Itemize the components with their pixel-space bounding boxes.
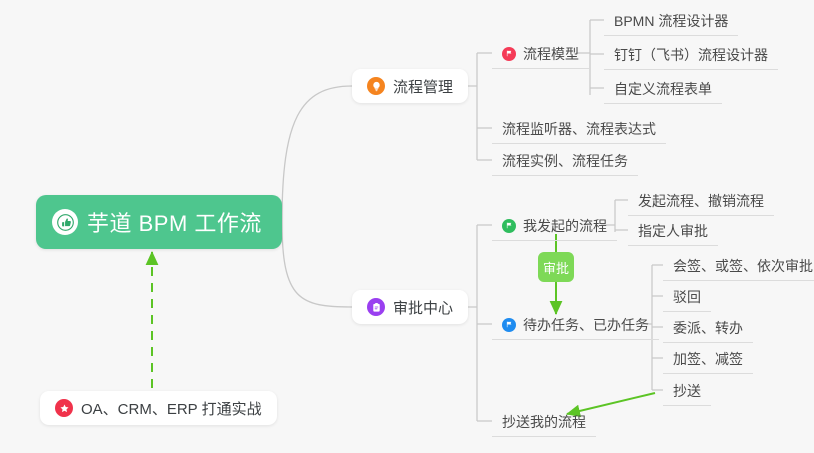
- node-oa-crm-erp-label: OA、CRM、ERP 打通实战: [81, 398, 262, 419]
- node-countersign-label: 会签、或签、依次审批: [673, 256, 813, 276]
- node-process-instance-label: 流程实例、流程任务: [502, 151, 628, 171]
- node-todo-done-tasks[interactable]: 待办任务、已办任务: [492, 310, 659, 340]
- approve-tag-label: 审批: [543, 258, 569, 277]
- node-dingtalk-designer[interactable]: 钉钉（飞书）流程设计器: [604, 40, 778, 70]
- branch-approval-center[interactable]: 审批中心: [352, 290, 468, 324]
- clipboard-icon: [367, 298, 385, 316]
- root-node[interactable]: 芋道 BPM 工作流: [36, 195, 282, 249]
- node-delegate-transfer[interactable]: 委派、转办: [663, 313, 753, 343]
- node-reject[interactable]: 驳回: [663, 282, 711, 312]
- node-process-listener-label: 流程监听器、流程表达式: [502, 119, 656, 139]
- branch-process-management[interactable]: 流程管理: [352, 69, 468, 103]
- flag-icon-green: [502, 219, 516, 233]
- branch-process-management-label: 流程管理: [393, 76, 453, 97]
- thumbs-up-icon: [52, 209, 78, 235]
- flag-icon-red: [502, 47, 516, 61]
- node-add-remove-sign[interactable]: 加签、减签: [663, 344, 753, 374]
- node-dingtalk-designer-label: 钉钉（飞书）流程设计器: [614, 45, 768, 65]
- node-copied-to-me-processes-label: 抄送我的流程: [502, 412, 586, 432]
- node-process-instance[interactable]: 流程实例、流程任务: [492, 146, 638, 176]
- node-my-started-processes-label: 我发起的流程: [523, 216, 607, 236]
- approve-tag[interactable]: 审批: [538, 252, 574, 282]
- node-bpmn-designer[interactable]: BPMN 流程设计器: [604, 6, 738, 36]
- node-delegate-transfer-label: 委派、转办: [673, 318, 743, 338]
- flag-icon-blue: [502, 318, 516, 332]
- node-my-started-processes[interactable]: 我发起的流程: [492, 211, 617, 241]
- node-reject-label: 驳回: [673, 287, 701, 307]
- connector-root-to-approval-center: [282, 222, 352, 307]
- node-assignee-approval[interactable]: 指定人审批: [628, 216, 718, 246]
- star-icon: [55, 399, 73, 417]
- node-todo-done-tasks-label: 待办任务、已办任务: [523, 315, 649, 335]
- branch-approval-center-label: 审批中心: [393, 297, 453, 318]
- node-oa-crm-erp[interactable]: OA、CRM、ERP 打通实战: [40, 391, 277, 425]
- node-cc-label: 抄送: [673, 381, 701, 401]
- mindmap-canvas: 芋道 BPM 工作流 流程管理 流程模型 BPMN 流程设计器 钉钉（飞书）流程…: [0, 0, 814, 453]
- node-process-model-label: 流程模型: [523, 44, 579, 64]
- node-process-model[interactable]: 流程模型: [492, 39, 589, 69]
- node-custom-form[interactable]: 自定义流程表单: [604, 74, 722, 104]
- lightbulb-icon: [367, 77, 385, 95]
- node-process-listener[interactable]: 流程监听器、流程表达式: [492, 114, 666, 144]
- root-label: 芋道 BPM 工作流: [87, 206, 262, 238]
- node-countersign[interactable]: 会签、或签、依次审批: [663, 251, 814, 281]
- node-copied-to-me-processes[interactable]: 抄送我的流程: [492, 407, 596, 437]
- connector-root-to-process-management: [282, 86, 352, 222]
- node-assignee-approval-label: 指定人审批: [638, 221, 708, 241]
- node-start-cancel-process[interactable]: 发起流程、撤销流程: [628, 186, 774, 216]
- node-custom-form-label: 自定义流程表单: [614, 79, 712, 99]
- node-add-remove-sign-label: 加签、减签: [673, 349, 743, 369]
- node-bpmn-designer-label: BPMN 流程设计器: [614, 11, 728, 31]
- node-cc[interactable]: 抄送: [663, 376, 711, 406]
- node-start-cancel-process-label: 发起流程、撤销流程: [638, 191, 764, 211]
